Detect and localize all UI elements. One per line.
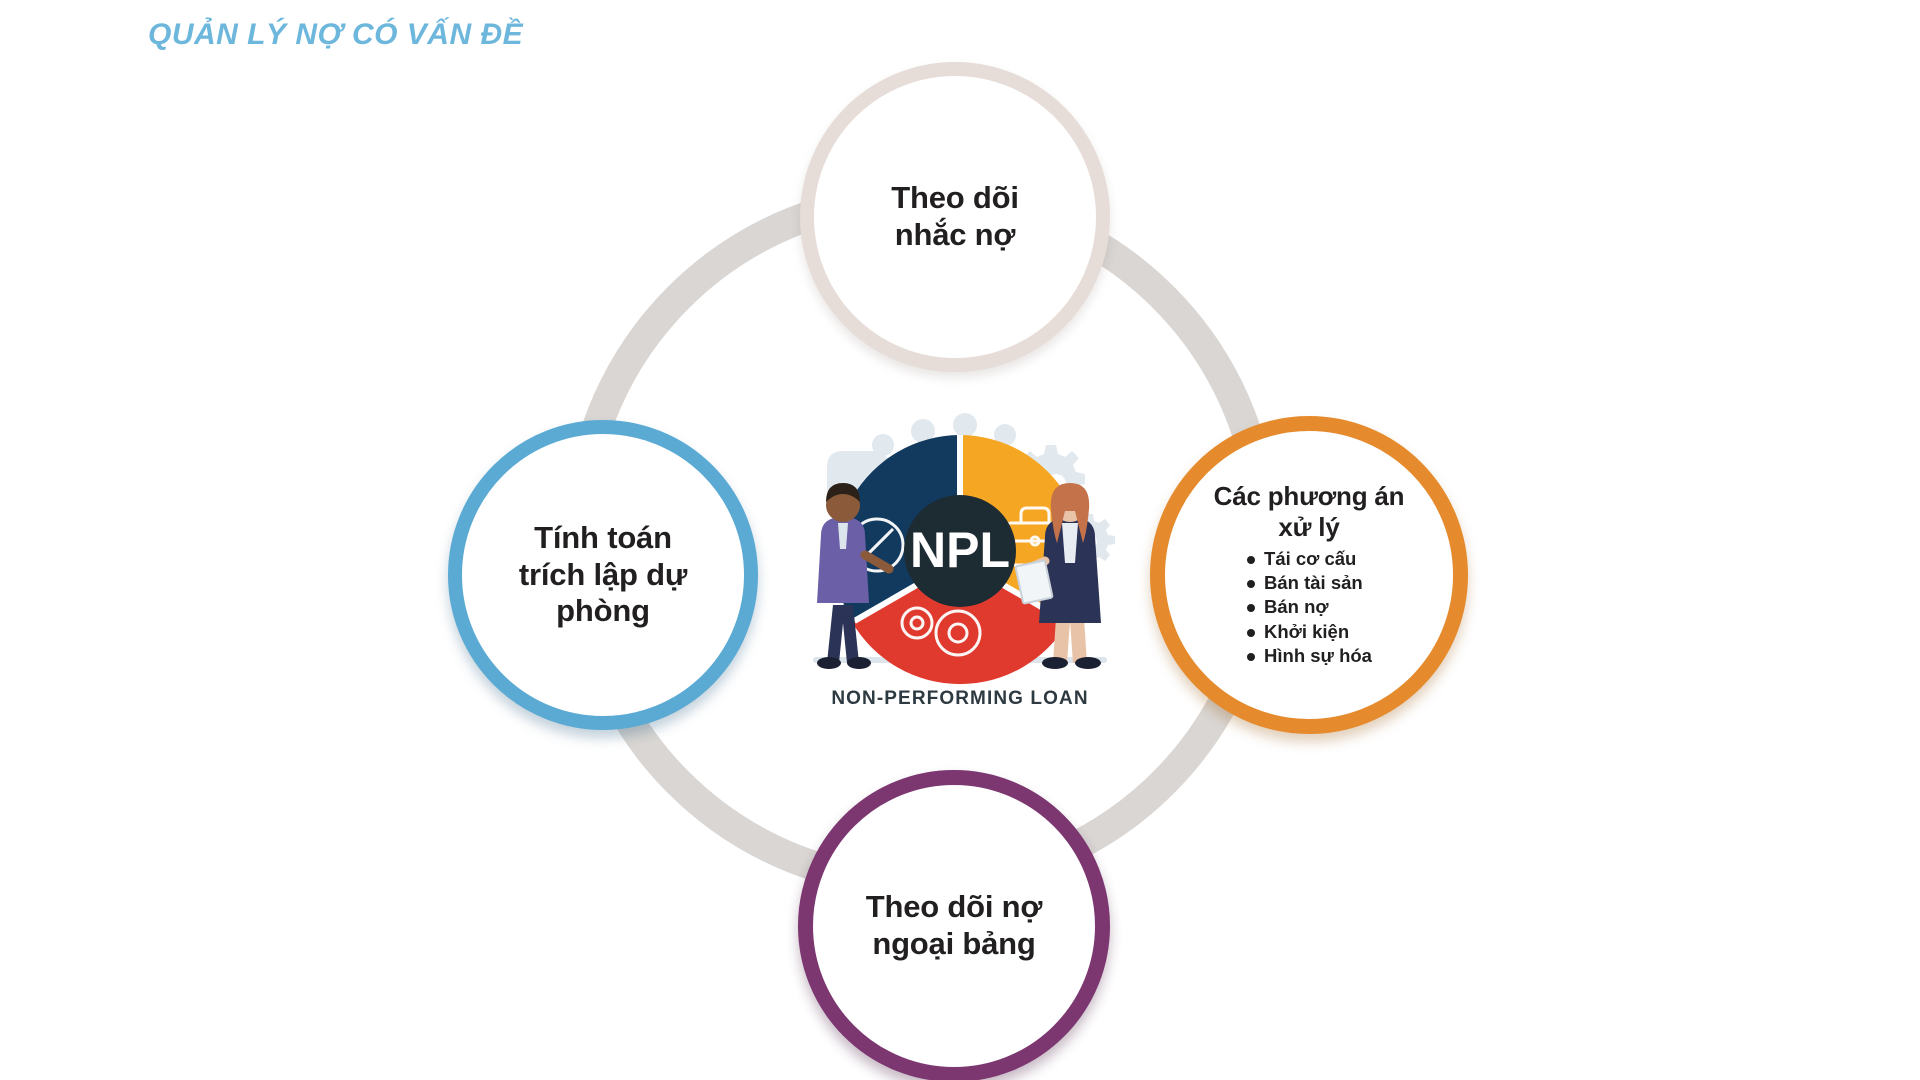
node-cac-phuong-an-xu-ly[interactable]: Các phương án xử lý Tái cơ cấu Bán tài s… (1150, 416, 1468, 734)
list-item: Tái cơ cấu (1246, 547, 1372, 571)
node-left-title: Tính toán trích lập dự phòng (519, 520, 687, 630)
node-bottom-title-line2: ngoại bảng (872, 926, 1035, 961)
node-top-title-line1: Theo dõi (891, 180, 1019, 215)
list-item: Hình sự hóa (1246, 644, 1372, 668)
node-theo-doi-no-ngoai-bang[interactable]: Theo dõi nợ ngoại bảng (798, 770, 1110, 1080)
node-top-title: Theo dõi nhắc nợ (891, 180, 1019, 253)
node-left-title-line2: trích lập dự (519, 557, 687, 592)
list-item: Bán nợ (1246, 595, 1372, 619)
node-right-title: Các phương án xử lý (1214, 481, 1405, 542)
node-left-title-line1: Tính toán (534, 520, 672, 555)
node-left-title-line3: phòng (556, 593, 650, 628)
page-title: QUẢN LÝ NỢ CÓ VẤN ĐỀ (148, 18, 523, 52)
list-item: Bán tài sản (1246, 571, 1372, 595)
node-top-title-line2: nhắc nợ (895, 217, 1016, 252)
list-item: Khởi kiện (1246, 620, 1372, 644)
npl-illustration: NPL (805, 405, 1115, 715)
diagram-canvas: QUẢN LÝ NỢ CÓ VẤN ĐỀ Theo dõi nhắc nợ Tí… (0, 0, 1920, 1080)
node-theo-doi-nhac-no[interactable]: Theo dõi nhắc nợ (800, 62, 1110, 372)
node-right-title-line1: Các phương án (1214, 481, 1405, 511)
node-tinh-toan-trich-lap-du-phong[interactable]: Tính toán trích lập dự phòng (448, 420, 758, 730)
npl-caption: NON-PERFORMING LOAN (805, 688, 1115, 710)
node-bottom-title-line1: Theo dõi nợ (866, 889, 1043, 924)
xu-ly-option-list: Tái cơ cấu Bán tài sản Bán nợ Khởi kiện … (1246, 547, 1372, 669)
node-right-title-line2: xử lý (1278, 512, 1339, 542)
node-bottom-title: Theo dõi nợ ngoại bảng (866, 889, 1043, 962)
npl-acronym: NPL (910, 522, 1010, 578)
